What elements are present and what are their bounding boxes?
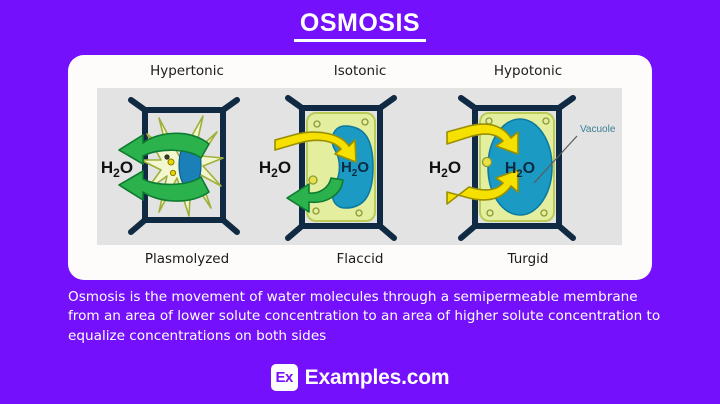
cell-diagram-panel: H2O [97, 88, 622, 245]
column-label-flaccid: Flaccid [270, 251, 450, 267]
column-label-hypertonic: Hypertonic [97, 63, 277, 79]
cell-flaccid: H2O H2O [259, 98, 394, 238]
water-label-isotonic: H2O [259, 158, 291, 180]
examples-logo-text: Examples.com [305, 366, 450, 390]
cell-turgid: H2O H2O Vacuole [429, 98, 616, 238]
page-title: OSMOSIS [0, 10, 720, 42]
column-label-hypotonic: Hypotonic [438, 63, 618, 79]
column-label-plasmolyzed: Plasmolyzed [97, 251, 277, 267]
water-label-hypotonic: H2O [429, 158, 461, 180]
page-title-text: OSMOSIS [294, 10, 426, 42]
water-label-hypertonic: H2O [101, 158, 133, 180]
column-label-turgid: Turgid [438, 251, 618, 267]
footer-branding[interactable]: Ex Examples.com [0, 364, 720, 391]
osmosis-diagram: H2O [97, 88, 622, 245]
vacuole-label: Vacuole [580, 124, 616, 135]
examples-logo-icon: Ex [271, 364, 298, 391]
column-label-isotonic: Isotonic [270, 63, 450, 79]
figure-card: Hypertonic Isotonic Hypotonic [68, 55, 652, 280]
definition-caption: Osmosis is the movement of water molecul… [68, 288, 668, 346]
cell-plasmolyzed: H2O [101, 100, 237, 232]
